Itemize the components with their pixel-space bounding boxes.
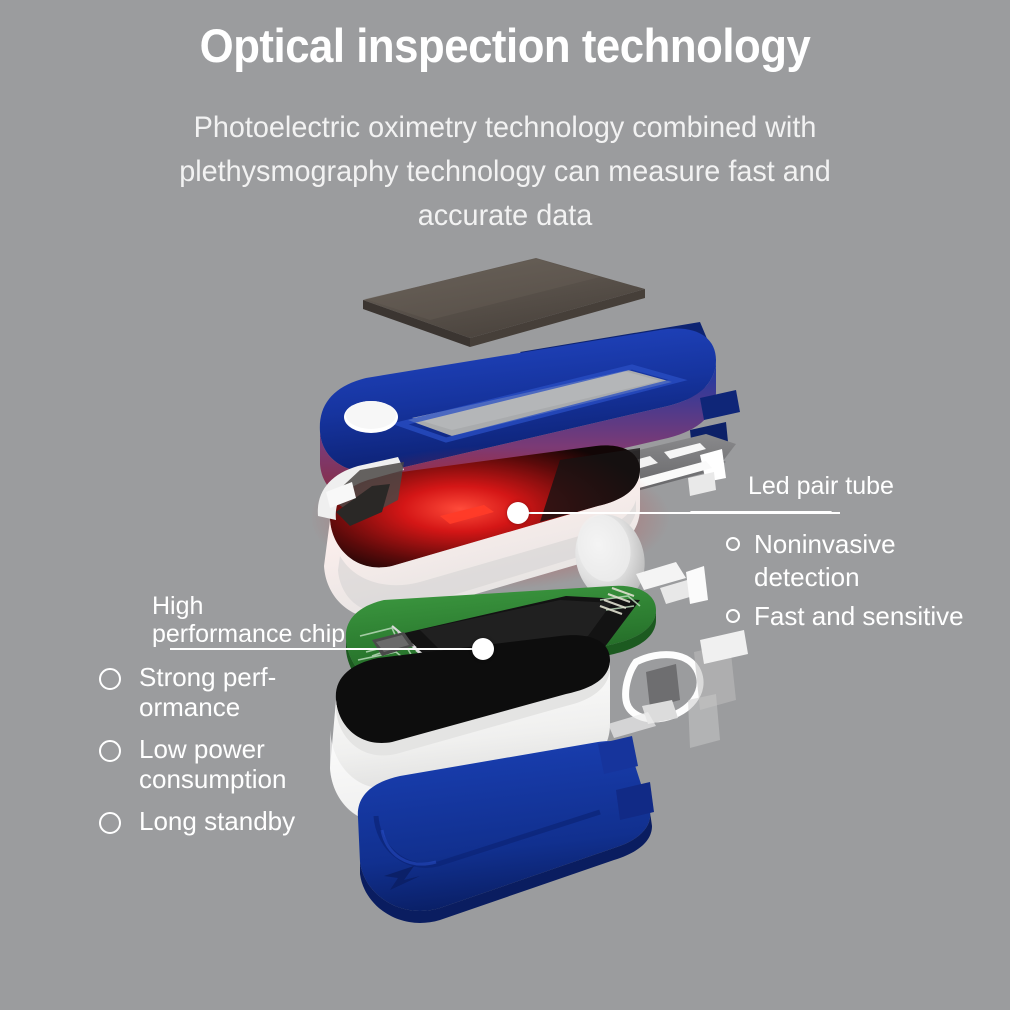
leader-line-chip [170, 648, 484, 650]
display-glass-panel [363, 258, 645, 347]
bullet-circle-icon [726, 537, 740, 551]
list-item: Long standby [99, 806, 359, 836]
list-item: Strong perf- ormance [99, 662, 359, 722]
bullet-label: Low power consumption [139, 734, 286, 794]
bullet-label: Fast and sensitive [754, 600, 964, 633]
page-title: Optical inspection technology [35, 18, 974, 73]
bullet-circle-icon [99, 812, 121, 834]
bullet-circle-icon [99, 668, 121, 690]
callout-heading-high-performance-chip: High performance chip [152, 592, 345, 648]
callout-divider-right [690, 511, 832, 514]
list-item: Fast and sensitive [726, 600, 1006, 633]
bullet-circle-icon [726, 609, 740, 623]
marker-dot-led [507, 502, 529, 524]
bullet-label: Strong perf- ormance [139, 662, 276, 722]
bullet-label: Noninvasive detection [754, 528, 1006, 594]
list-item: Low power consumption [99, 734, 359, 794]
callout-heading-led-pair-tube: Led pair tube [748, 472, 894, 500]
infographic-page: Optical inspection technology Photoelect… [0, 0, 1010, 1010]
list-item: Noninvasive detection [726, 528, 1006, 594]
page-subtitle: Photoelectric oximetry technology combin… [121, 106, 889, 238]
marker-dot-chip [472, 638, 494, 660]
bullet-circle-icon [99, 740, 121, 762]
callout-bullets-right: Noninvasive detection Fast and sensitive [726, 528, 1006, 639]
callout-bullets-left: Strong perf- ormance Low power consumpti… [99, 662, 359, 848]
bullet-label: Long standby [139, 806, 295, 836]
